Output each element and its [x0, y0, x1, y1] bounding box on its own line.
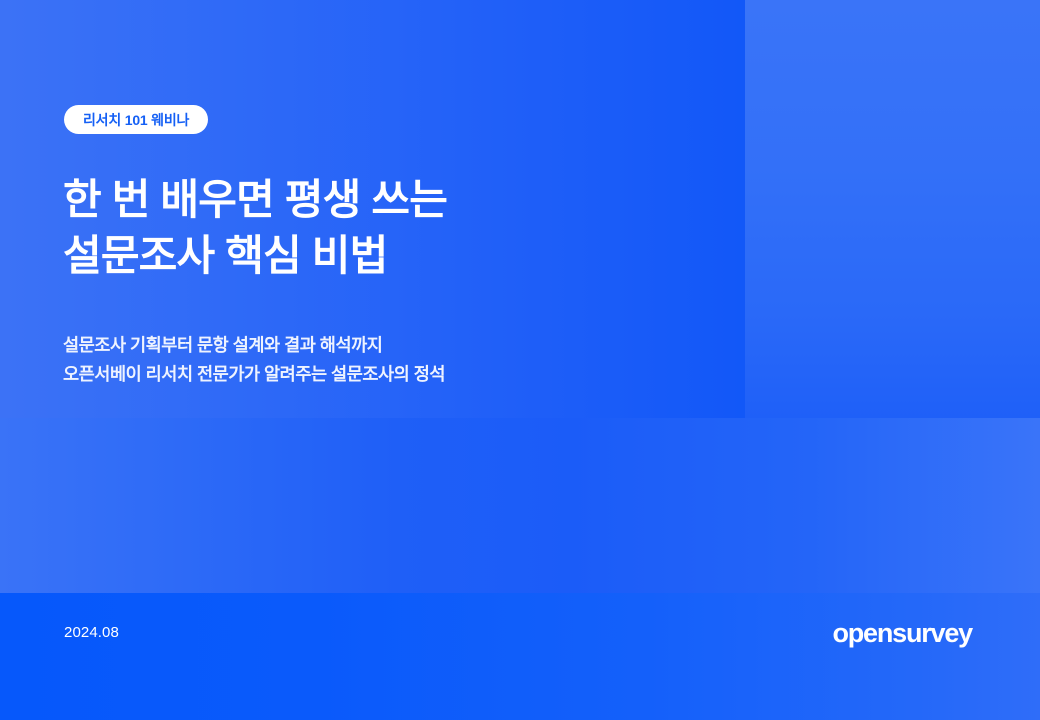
- slide-subtitle-line-1: 설문조사 기획부터 문항 설계와 결과 해석까지: [63, 331, 743, 360]
- slide-title: 한 번 배우면 평생 쓰는 설문조사 핵심 비법: [63, 172, 723, 284]
- webinar-title-slide: 리서치 101 웨비나 한 번 배우면 평생 쓰는 설문조사 핵심 비법 설문조…: [0, 0, 1040, 720]
- category-badge: 리서치 101 웨비나: [64, 105, 208, 134]
- slide-title-line-2: 설문조사 핵심 비법: [63, 228, 723, 284]
- slide-subtitle: 설문조사 기획부터 문항 설계와 결과 해석까지 오픈서베이 리서치 전문가가 …: [63, 331, 743, 389]
- slide-title-line-1: 한 번 배우면 평생 쓰는: [63, 172, 723, 228]
- slide-date: 2024.08: [64, 624, 119, 641]
- slide-content: 리서치 101 웨비나 한 번 배우면 평생 쓰는 설문조사 핵심 비법 설문조…: [0, 0, 1040, 720]
- opensurvey-logo: opensurvey: [832, 618, 972, 648]
- slide-subtitle-line-2: 오픈서베이 리서치 전문가가 알려주는 설문조사의 정석: [63, 360, 743, 389]
